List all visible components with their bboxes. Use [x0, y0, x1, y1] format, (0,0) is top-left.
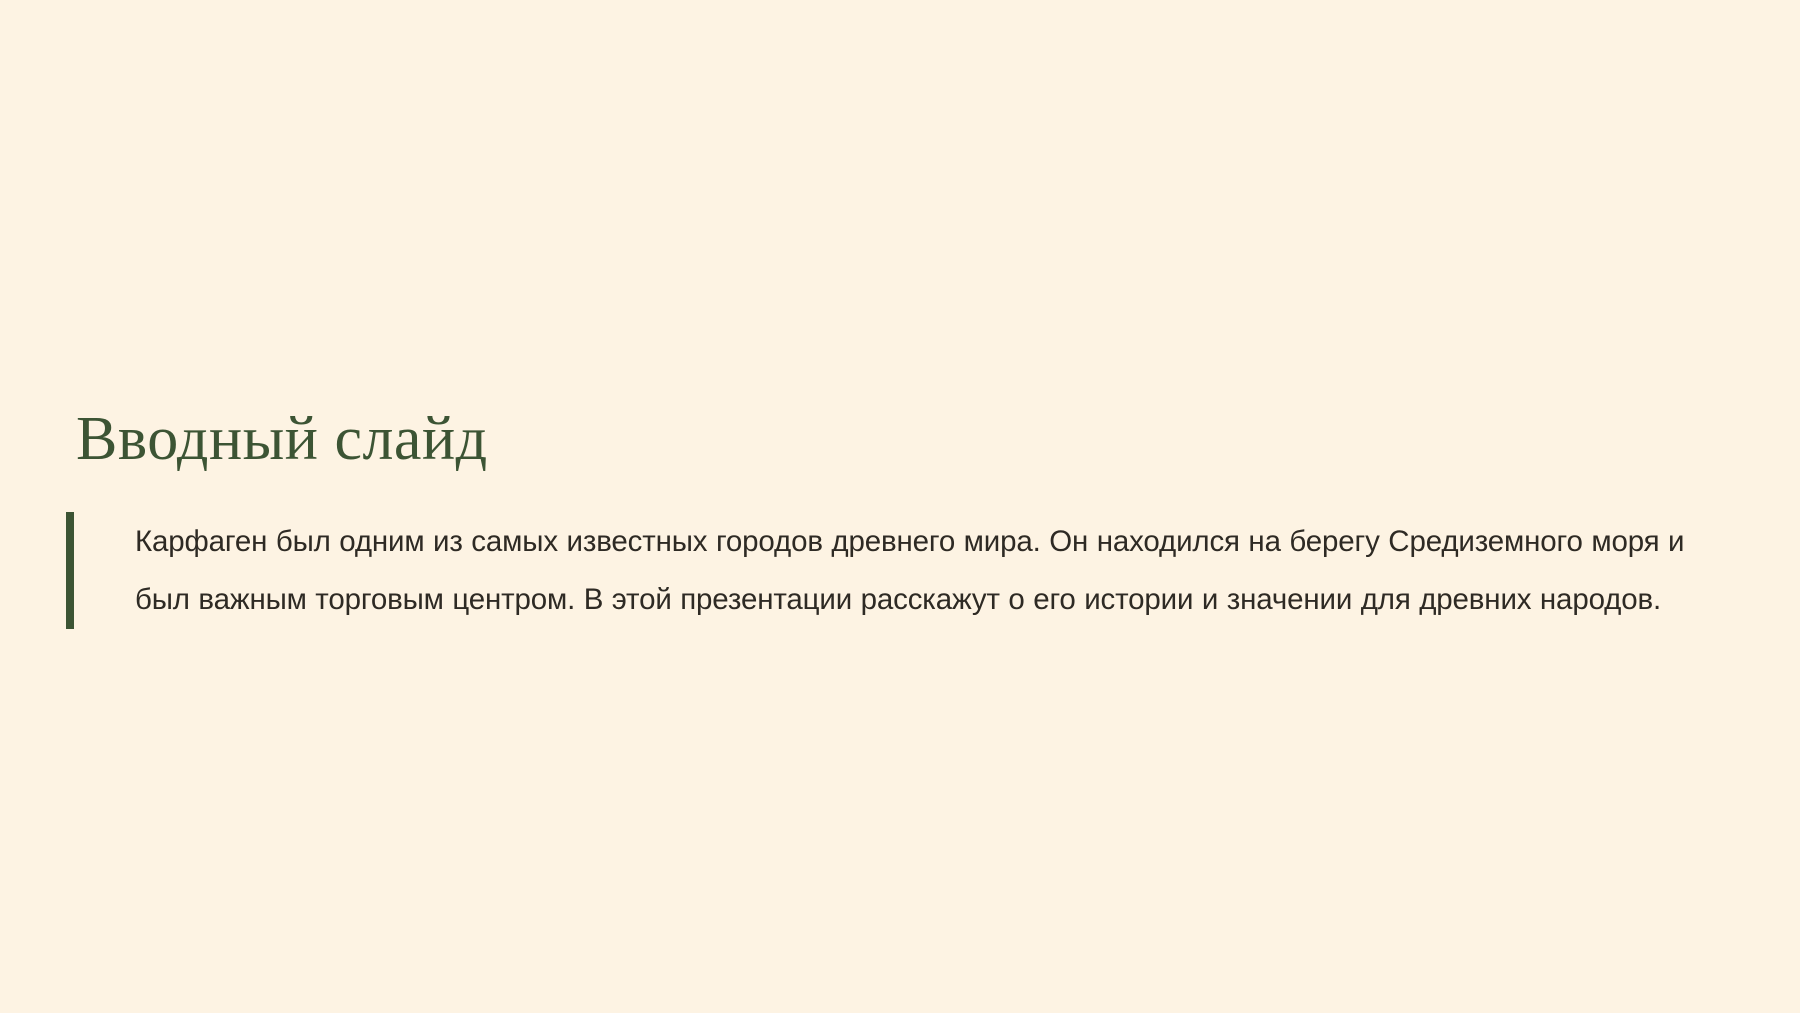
slide-canvas: Вводный слайд Карфаген был одним из самы…: [0, 0, 1800, 1013]
body-quote-block: Карфаген был одним из самых известных го…: [66, 512, 1738, 629]
accent-bar: [66, 512, 74, 629]
page-title: Вводный слайд: [76, 404, 488, 474]
body-text-container: Карфаген был одним из самых известных го…: [74, 512, 1738, 629]
body-paragraph: Карфаген был одним из самых известных го…: [135, 513, 1738, 629]
